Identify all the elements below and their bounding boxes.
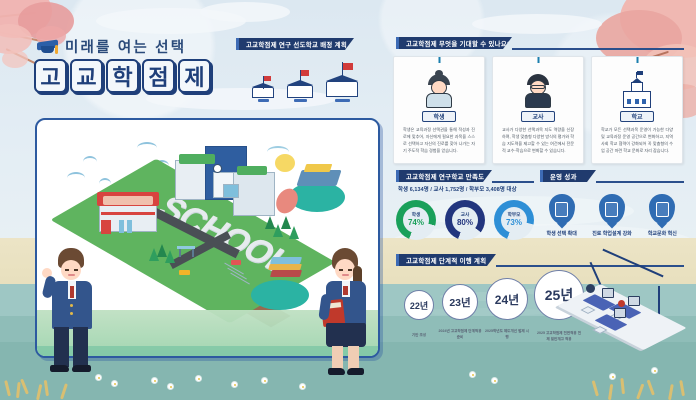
cloud-shape bbox=[200, 2, 290, 22]
page-title: 고 교 학 점 제 bbox=[34, 59, 211, 93]
result-label-career: 진로 학업설계 강화 bbox=[590, 230, 633, 237]
plan-ribbon-label: 고교학점제 연구 선도학교 배정 계획 bbox=[246, 40, 347, 49]
student-avatar-icon bbox=[400, 72, 478, 108]
teacher-avatar-icon bbox=[499, 72, 577, 108]
roadmap-caption-24: 2025학년도 제도개선 법제 시행 bbox=[484, 329, 530, 340]
bird-icon bbox=[83, 156, 97, 162]
donut-value-student: 74% bbox=[408, 218, 424, 227]
bird-icon bbox=[267, 146, 289, 152]
results-ribbon-rule bbox=[596, 181, 684, 183]
satisfaction-ribbon: 고교학점제 연구학교 만족도 bbox=[396, 170, 492, 182]
roadmap-step-24[interactable]: 24년 bbox=[486, 278, 528, 320]
satisfaction-sample-note: 학생 6,134명 / 교사 1,752명 / 학부모 3,408명 대상 bbox=[398, 185, 517, 193]
header-tagline: 미래를 여는 선택 bbox=[65, 36, 186, 57]
expectation-card-school[interactable]: 학교 학교가 모든 선택과목 운영이 가능한 다양 및 교육과정 운영 공간으로… bbox=[591, 56, 683, 164]
card-body-student: 학생은 교육과정 선택권을 통해 적성과 진로에 맞추어, 자신에게 필요한 과… bbox=[400, 126, 478, 155]
title-char: 고 bbox=[34, 59, 67, 93]
card-body-teacher: 교사가 다양한 선택과목 지도 역량을 신장하며, 학생 맞춤형 다양한 방식의… bbox=[499, 126, 577, 155]
result-item-culture[interactable]: 학교문화 혁신 bbox=[641, 194, 684, 237]
large-school-flag-icon bbox=[326, 75, 358, 102]
roadmap-ribbon-label: 고교학점제 단계적 이행 계획 bbox=[406, 256, 486, 265]
document-plan-icon bbox=[599, 194, 625, 224]
expectation-card-list: 학생 학생은 교육과정 선택권을 통해 적성과 진로에 맞추어, 자신에게 필요… bbox=[393, 56, 683, 164]
small-school-flag-icon bbox=[252, 83, 274, 103]
result-label-choice: 학생 선택 확대 bbox=[540, 230, 583, 237]
donut-value-parent: 73% bbox=[506, 218, 522, 227]
medium-school-flag-icon bbox=[287, 80, 313, 103]
graduation-cap-icon bbox=[37, 39, 58, 55]
bird-icon bbox=[99, 178, 111, 184]
isometric-classroom-icon bbox=[560, 258, 690, 354]
results-ribbon: 운영 성과 bbox=[540, 170, 596, 182]
satisfaction-donut-chart: 학생 74% 교사 80% 학부모 73% bbox=[396, 196, 536, 244]
roadmap-timeline: 22년 기반 조성 23년 2024년 고교학점제 단계적용 준비 24년 20… bbox=[398, 272, 568, 342]
results-icon-list: 학생 선택 확대 진로 학업설계 강화 학교문화 혁신 bbox=[540, 194, 684, 237]
pin-icon bbox=[434, 50, 445, 63]
expectations-ribbon-label: 고교학점제 무엇을 기대할 수 있나요? bbox=[406, 39, 511, 48]
bird-icon bbox=[67, 172, 85, 178]
donut-parent: 학부모 73% bbox=[494, 200, 534, 240]
card-badge-student: 학생 bbox=[422, 111, 456, 122]
title-char: 점 bbox=[142, 59, 175, 93]
title-char: 제 bbox=[178, 59, 211, 93]
title-char: 교 bbox=[70, 59, 103, 93]
donut-teacher: 교사 80% bbox=[445, 200, 485, 240]
expectation-card-student[interactable]: 학생 학생은 교육과정 선택권을 통해 적성과 진로에 맞추어, 자신에게 필요… bbox=[393, 56, 485, 164]
donut-value-teacher: 80% bbox=[457, 218, 473, 227]
school-flag-icon-group bbox=[252, 58, 352, 102]
male-student-figure bbox=[46, 248, 98, 374]
header-tagline-row: 미래를 여는 선택 bbox=[37, 36, 186, 57]
expectation-card-teacher[interactable]: 교사 교사가 다양한 선택과목 지도 역량을 신장하며, 학생 맞춤형 다양한 … bbox=[492, 56, 584, 164]
school-building-icon bbox=[598, 72, 676, 108]
expectations-ribbon: 고교학점제 무엇을 기대할 수 있나요? bbox=[396, 37, 512, 49]
roadmap-step-23[interactable]: 23년 bbox=[442, 284, 478, 320]
results-ribbon-label: 운영 성과 bbox=[550, 172, 577, 181]
infographic-poster: 미래를 여는 선택 고 교 학 점 제 고교학점제 연구 선도학교 배정 계획 bbox=[0, 0, 696, 400]
cloud-shape bbox=[472, 14, 602, 34]
satisfaction-ribbon-label: 고교학점제 연구학교 만족도 bbox=[406, 172, 484, 181]
donut-student: 학생 74% bbox=[396, 200, 436, 240]
plan-ribbon: 고교학점제 연구 선도학교 배정 계획 bbox=[236, 38, 354, 50]
title-char: 학 bbox=[106, 59, 139, 93]
card-badge-school: 학교 bbox=[620, 111, 654, 122]
sun-icon bbox=[275, 154, 295, 172]
roadmap-step-22[interactable]: 22년 bbox=[404, 290, 434, 320]
card-badge-teacher: 교사 bbox=[521, 111, 555, 122]
card-body-school: 학교가 모든 선택과목 운영이 가능한 다양 및 교육과정 운영 공간으로 변화… bbox=[598, 126, 676, 155]
roadmap-caption-23: 2024년 고교학점제 단계적용 준비 bbox=[437, 329, 483, 340]
satisfaction-ribbon-rule bbox=[492, 181, 534, 183]
pin-icon bbox=[533, 50, 544, 63]
result-item-career[interactable]: 진로 학업설계 강화 bbox=[590, 194, 633, 237]
book-island-icon bbox=[251, 280, 309, 310]
award-badge-icon bbox=[549, 194, 575, 224]
result-label-culture: 학교문화 혁신 bbox=[641, 230, 684, 237]
school-innovation-icon bbox=[649, 194, 675, 224]
roadmap-ribbon: 고교학점제 단계적 이행 계획 bbox=[396, 254, 496, 266]
pin-icon bbox=[632, 50, 643, 63]
result-item-choice[interactable]: 학생 선택 확대 bbox=[540, 194, 583, 237]
female-student-figure bbox=[320, 248, 374, 376]
roadmap-caption-22: 기반 조성 bbox=[396, 333, 442, 338]
bird-icon bbox=[137, 142, 157, 148]
